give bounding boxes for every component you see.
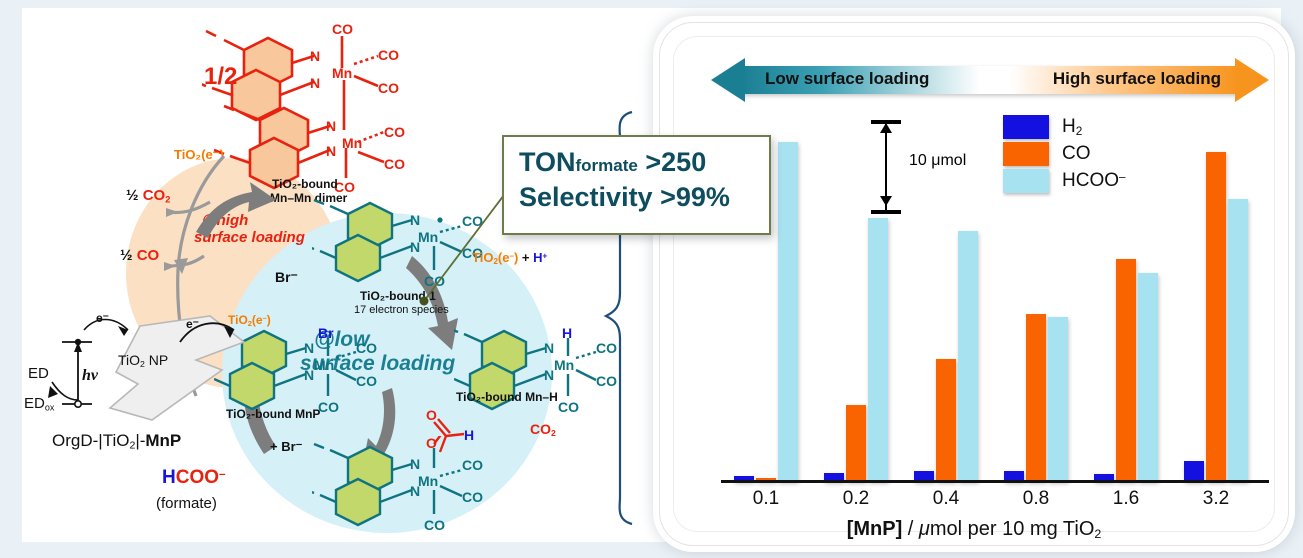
- svg-text:e⁻: e⁻: [96, 311, 109, 325]
- formate-word-label: (formate): [156, 496, 217, 513]
- svg-text:N: N: [310, 48, 320, 64]
- x-tick-label: 0.1: [726, 488, 806, 510]
- bar-co: [1026, 314, 1046, 482]
- svg-text:N: N: [410, 456, 420, 472]
- chart-panel: Low surface loading High surface loading…: [659, 22, 1289, 546]
- bar-chart-plot-area: [721, 132, 1261, 482]
- svg-text:H: H: [562, 326, 572, 341]
- svg-text:CO: CO: [318, 399, 339, 415]
- formate-OH-group: O H: [420, 406, 490, 466]
- x-axis-label: [MnP] / μmol per 10 mg TiO2: [673, 518, 1275, 541]
- bar-h2: [1184, 461, 1204, 482]
- svg-text:CO: CO: [378, 47, 399, 63]
- reaction-scheme: NN Mn COCOCO NN Mn COCOCO 1/2 TiO₂-bound…: [22, 8, 642, 558]
- ton-line2: Selectivity >99%: [519, 182, 730, 213]
- svg-text:CO: CO: [356, 373, 377, 389]
- svg-text:CO: CO: [356, 340, 377, 356]
- bar-co: [1116, 259, 1136, 482]
- x-tick-label: 0.8: [996, 488, 1076, 510]
- banner-right-label: High surface loading: [1053, 69, 1221, 89]
- svg-text:N: N: [544, 340, 554, 356]
- bar-hcoo: [868, 218, 888, 482]
- formate-product-label: HCOO–: [162, 468, 226, 489]
- svg-text:e⁻: e⁻: [186, 317, 199, 331]
- ton-subscript: formate: [576, 156, 638, 175]
- svg-text:CO: CO: [332, 21, 353, 37]
- bar-hcoo: [1228, 199, 1248, 482]
- banner-left-label: Low surface loading: [765, 69, 929, 89]
- svg-text:N: N: [304, 340, 314, 356]
- svg-text:CO: CO: [378, 80, 399, 96]
- svg-text:Mn: Mn: [418, 473, 438, 489]
- ton-value: >250: [645, 147, 706, 177]
- svg-text:CO: CO: [462, 489, 483, 505]
- x-axis-label-rest: / μmol per 10 mg TiO2: [902, 518, 1101, 540]
- svg-text:N: N: [304, 367, 314, 383]
- x-axis-line: [721, 480, 1269, 483]
- banner-left-arrow-icon: [711, 58, 745, 102]
- interface-electron-arrow: e⁻: [172, 308, 262, 378]
- bar-hcoo: [778, 142, 798, 482]
- bar-group: [914, 132, 978, 482]
- half-equivalent-label: 1/2: [204, 64, 237, 90]
- svg-text:N: N: [310, 75, 320, 91]
- bromide-label: Br⁻: [275, 270, 298, 285]
- x-tick-label: 0.4: [906, 488, 986, 510]
- svg-text:N: N: [326, 118, 336, 134]
- bar-group: [1184, 132, 1248, 482]
- svg-text:Mn: Mn: [314, 357, 334, 373]
- svg-text:H: H: [464, 427, 474, 443]
- bar-group: [1004, 132, 1068, 482]
- svg-text:Br: Br: [318, 326, 334, 341]
- chart-panel-inner: Low surface loading High surface loading…: [673, 36, 1275, 532]
- x-tick-label: 3.2: [1176, 488, 1256, 510]
- svg-text:CO: CO: [558, 399, 579, 415]
- ton-line1: TONformate >250: [519, 147, 706, 178]
- energy-level-diagram: hν e⁻: [44, 308, 154, 438]
- svg-text:N: N: [544, 367, 554, 383]
- bar-hcoo: [1138, 273, 1158, 482]
- surface-loading-banner: Low surface loading High surface loading: [711, 58, 1269, 102]
- figure-canvas: NN Mn COCOCO NN Mn COCOCO 1/2 TiO₂-bound…: [22, 8, 1281, 542]
- x-axis-label-bold: [MnP]: [847, 518, 903, 540]
- plus-bromide-label: + Br⁻: [270, 440, 303, 454]
- bar-co: [1206, 152, 1226, 482]
- svg-text:O: O: [426, 407, 437, 423]
- bar-hcoo: [1048, 317, 1068, 482]
- figure-root: NN Mn COCOCO NN Mn COCOCO 1/2 TiO₂-bound…: [0, 0, 1303, 558]
- bar-group: [824, 132, 888, 482]
- svg-text:hν: hν: [82, 367, 99, 384]
- bar-co: [936, 359, 956, 482]
- mnh-caption: TiO₂-bound Mn–H: [456, 391, 558, 404]
- x-tick-label: 1.6: [1086, 488, 1166, 510]
- electron-donor-label: ED: [28, 366, 49, 383]
- bar-group: [1094, 132, 1158, 482]
- ton-label: TON: [519, 147, 576, 177]
- svg-text:Mn: Mn: [332, 65, 352, 81]
- banner-right-arrow-icon: [1235, 58, 1269, 102]
- orgd-tio2-mnp-caption: OrgD-|TiO2|-MnP: [52, 432, 181, 452]
- x-tick-label: 0.2: [816, 488, 896, 510]
- bar-hcoo: [958, 231, 978, 482]
- ton-selectivity-callout: TONformate >250 Selectivity >99%: [502, 135, 771, 235]
- electron-donor-ox-label: EDox: [24, 396, 54, 413]
- svg-text:Mn: Mn: [554, 357, 574, 373]
- bar-co: [846, 405, 866, 482]
- svg-text:CO: CO: [424, 517, 445, 533]
